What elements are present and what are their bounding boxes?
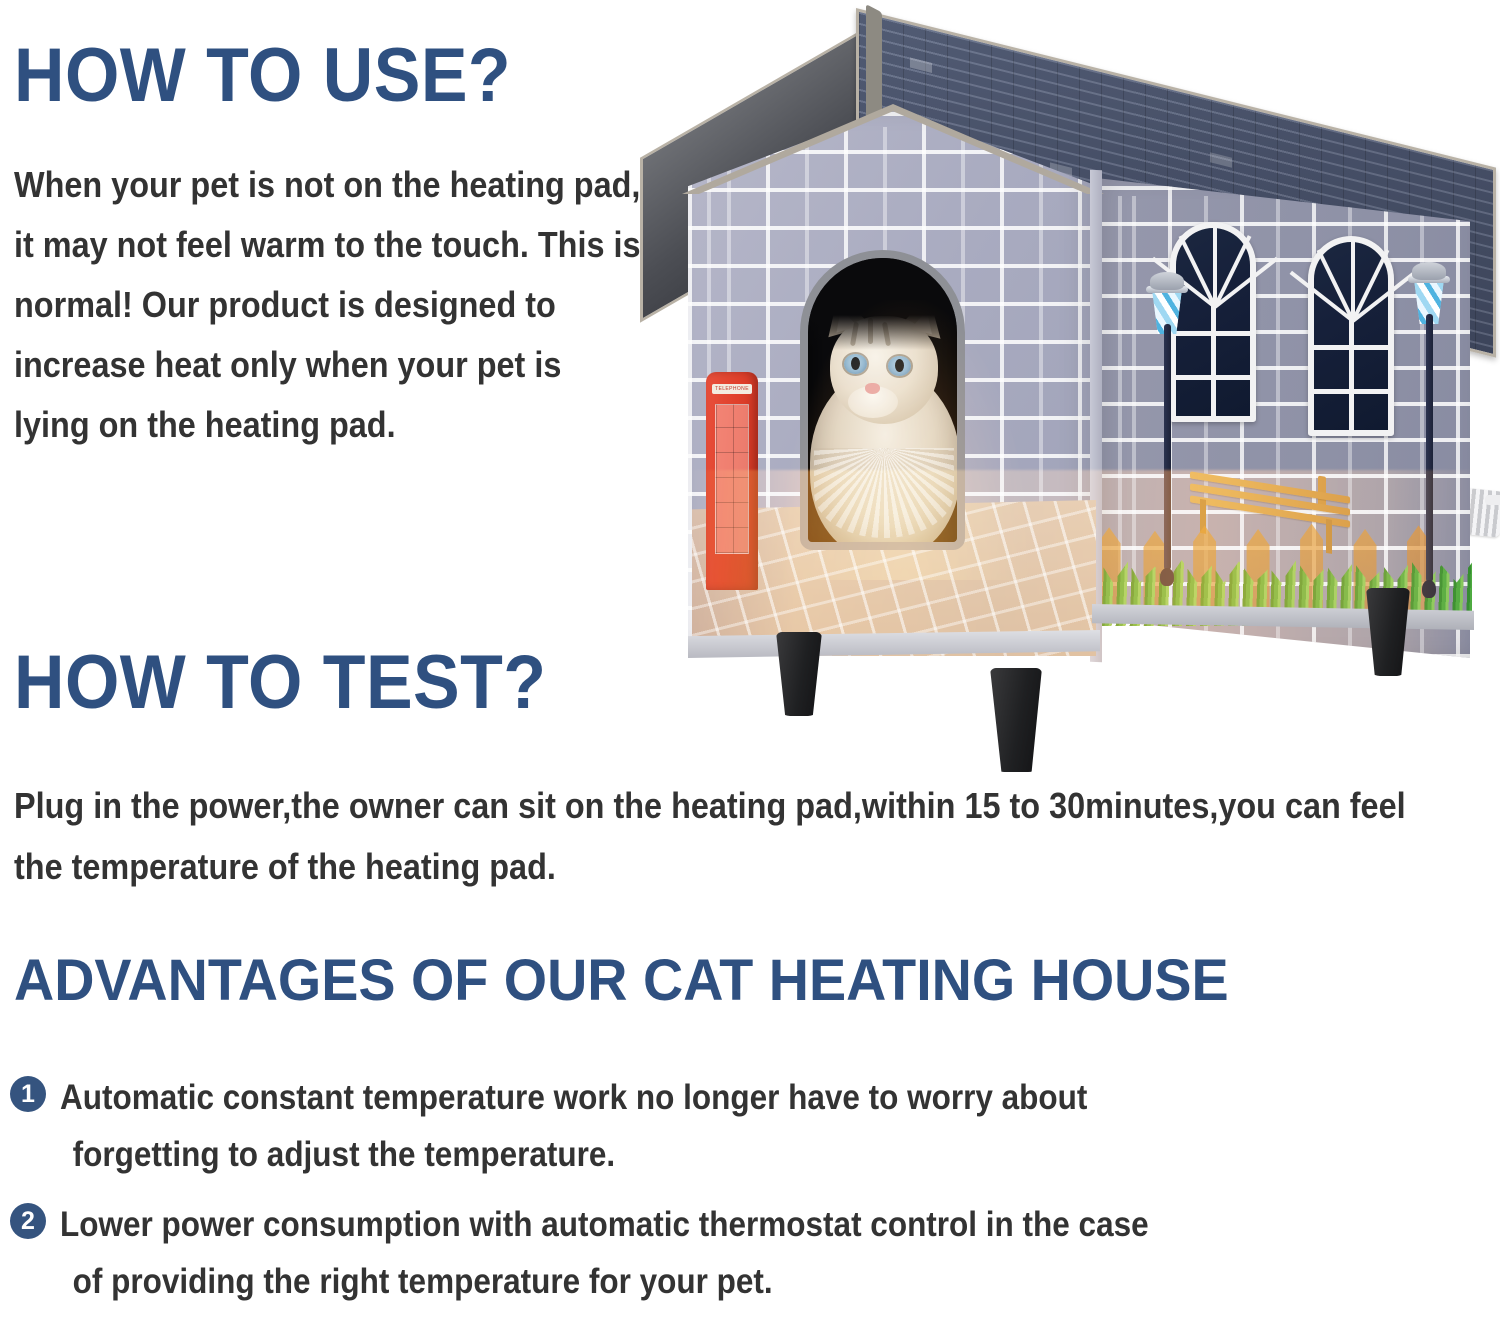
telephone-box: TELEPHONE xyxy=(706,372,758,590)
how-to-use-heading: HOW TO USE? xyxy=(14,38,511,114)
entrance-shadow xyxy=(808,258,957,350)
number-badge-1: 1 xyxy=(10,1076,46,1112)
number-badge-2: 2 xyxy=(10,1203,46,1239)
advantages-heading: ADVANTAGES OF OUR CAT HEATING HOUSE xyxy=(14,952,1229,1010)
list-item: 2 Lower power consumption with automatic… xyxy=(10,1197,1500,1310)
house-leg-3 xyxy=(1366,588,1410,676)
list-item: 1 Automatic constant temperature work no… xyxy=(10,1070,1500,1183)
advantages-list: 1 Automatic constant temperature work no… xyxy=(10,1070,1500,1325)
arched-window-2 xyxy=(1308,236,1394,436)
arched-entrance xyxy=(800,250,965,550)
power-cord-tail xyxy=(1485,495,1500,505)
advantage-2-line-1: Lower power consumption with automatic t… xyxy=(60,1205,1149,1244)
how-to-test-heading: HOW TO TEST? xyxy=(14,645,546,721)
advantage-1-line-2: forgetting to adjust the temperature. xyxy=(60,1127,1500,1184)
how-to-test-paragraph: Plug in the power,the owner can sit on t… xyxy=(14,775,1436,897)
lamppost-icon-3 xyxy=(1408,260,1450,600)
advantage-text-2: Lower power consumption with automatic t… xyxy=(60,1197,1500,1310)
advantage-2-line-2: of providing the right temperature for y… xyxy=(60,1254,1500,1311)
how-to-use-paragraph: When your pet is not on the heating pad,… xyxy=(14,155,644,456)
house-leg-1 xyxy=(776,632,822,716)
infographic-page: HOW TO USE? When your pet is not on the … xyxy=(0,0,1500,1329)
telephone-box-sign: TELEPHONE xyxy=(712,384,752,394)
advantage-1-line-1: Automatic constant temperature work no l… xyxy=(60,1078,1087,1117)
product-photo-cat-heating-house: TELEPHONE xyxy=(630,0,1500,760)
lamppost-icon-2 xyxy=(1146,270,1188,590)
window-fan-light xyxy=(1314,242,1388,321)
house-leg-2 xyxy=(990,668,1042,772)
advantage-text-1: Automatic constant temperature work no l… xyxy=(60,1070,1500,1183)
